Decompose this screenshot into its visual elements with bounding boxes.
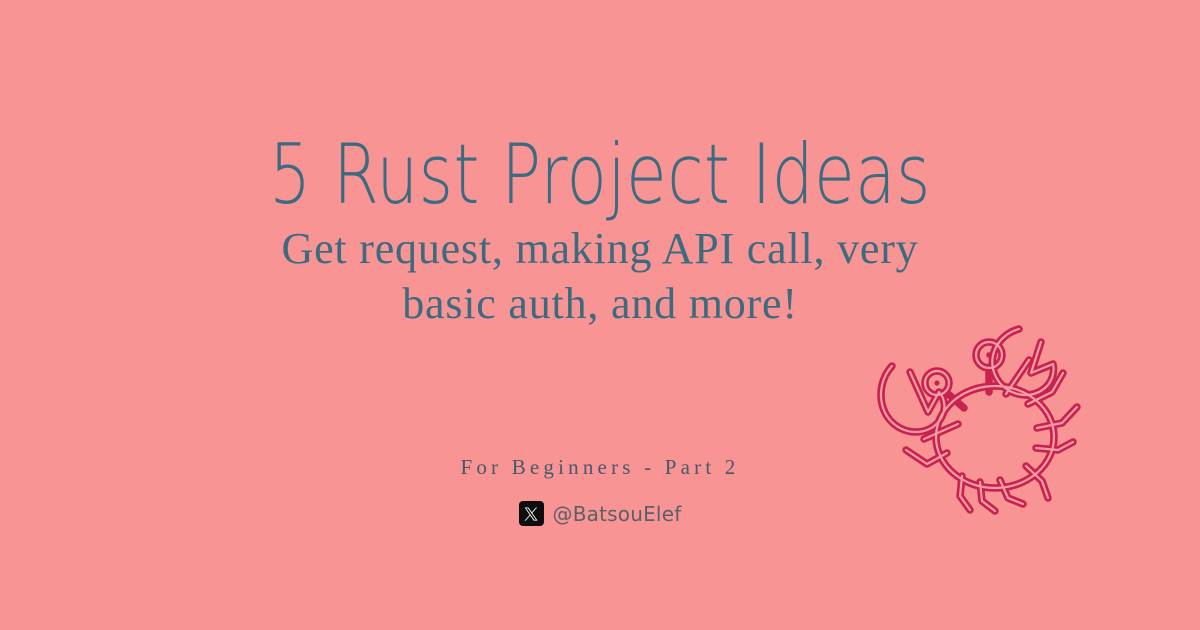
- subtitle-line-1: Get request, making API call, very: [0, 222, 1200, 277]
- social-handle-label: @BatsouElef: [553, 504, 682, 524]
- x-twitter-icon[interactable]: [519, 501, 544, 526]
- crab-icon: [866, 300, 1094, 516]
- page-title: 5 Rust Project Ideas: [18, 132, 1182, 219]
- slide-canvas: 5 Rust Project Ideas Get request, making…: [0, 0, 1200, 630]
